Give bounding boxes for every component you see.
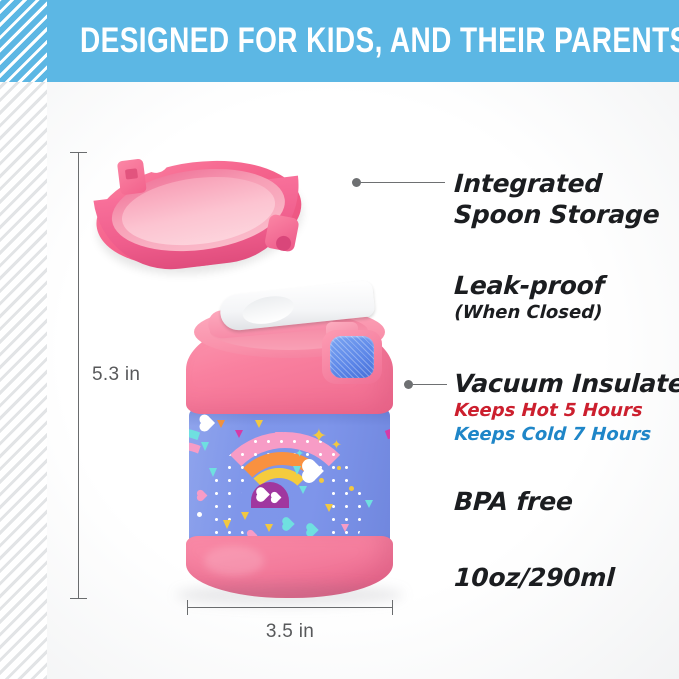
- callout-headline: Leak-proof: [453, 270, 605, 301]
- height-dimension-label: 5.3 in: [92, 364, 140, 386]
- star-icon-1: ✦: [311, 428, 327, 444]
- droplet-icon-12: [325, 504, 333, 512]
- callout-vacuum-insulated: Vacuum Insulated Keeps Hot 5 Hours Keeps…: [455, 368, 679, 447]
- lid-tab: [117, 158, 147, 195]
- droplet-icon-7: [299, 486, 307, 494]
- callout-headline: Integrated: [453, 168, 660, 199]
- height-dimension-line: [78, 152, 79, 598]
- star-icon-2: ✦: [331, 438, 342, 454]
- callout-spoon-storage: Integrated Spoon Storage: [455, 168, 660, 230]
- callout-headline-line2: Spoon Storage: [453, 199, 660, 230]
- droplet-icon-10: [241, 512, 249, 520]
- leader-rule: [361, 182, 445, 183]
- jar-base-highlight: [204, 546, 264, 576]
- droplet-icon-4: [255, 420, 263, 428]
- confetti-dot-1: [319, 478, 324, 483]
- height-dimension-cap-bottom: [70, 598, 87, 599]
- height-dimension-cap-top: [70, 152, 87, 153]
- droplet-icon-11: [265, 524, 273, 532]
- leader-rule: [413, 384, 447, 385]
- confetti-dot-4: [197, 512, 202, 517]
- droplet-icon-13: [341, 524, 349, 532]
- confetti-dot-2: [337, 466, 341, 470]
- callout-leak-proof: Leak-proof (When Closed): [455, 270, 605, 325]
- width-dimension-label: 3.5 in: [0, 621, 580, 643]
- infographic-page: DESIGNED FOR KIDS, AND THEIR PARENTS: [0, 0, 679, 679]
- release-button[interactable]: [330, 336, 374, 378]
- callout-keeps-cold: Keeps Cold 7 Hours: [454, 423, 679, 447]
- droplet-icon-14: [365, 500, 373, 508]
- callout-bpa-free: BPA free: [455, 486, 574, 517]
- callout-subtext: (When Closed): [454, 301, 605, 325]
- spoon-bowl: [240, 292, 296, 328]
- star-icon-3: ✦: [295, 446, 304, 462]
- jar-artwork-band: ✦ ✦ ✦: [189, 408, 390, 550]
- droplet-icon-5: [275, 432, 283, 440]
- width-dimension-cap-left: [187, 600, 188, 615]
- food-jar: ✦ ✦ ✦: [186, 300, 393, 598]
- droplet-icon-9: [223, 520, 231, 529]
- width-dimension-line: [187, 607, 393, 608]
- open-lid: [89, 140, 309, 290]
- callout-headline: Vacuum Insulated: [453, 368, 679, 399]
- confetti-dot-3: [349, 486, 354, 491]
- width-dimension-cap-right: [392, 600, 393, 615]
- droplet-icon-8: [209, 468, 217, 477]
- callout-capacity: 10oz/290ml: [455, 562, 615, 593]
- product-shadow: [176, 584, 404, 606]
- callout-headline: BPA free: [453, 486, 573, 517]
- leader-dot-icon: [404, 380, 413, 389]
- droplet-icon-2: [217, 420, 225, 428]
- callout-headline: 10oz/290ml: [453, 562, 615, 593]
- callout-keeps-hot: Keeps Hot 5 Hours: [454, 399, 679, 423]
- droplet-icon-6: [293, 466, 301, 475]
- leader-dot-icon: [352, 178, 361, 187]
- droplet-icon-3: [235, 430, 243, 438]
- droplet-icon-1: [201, 442, 209, 451]
